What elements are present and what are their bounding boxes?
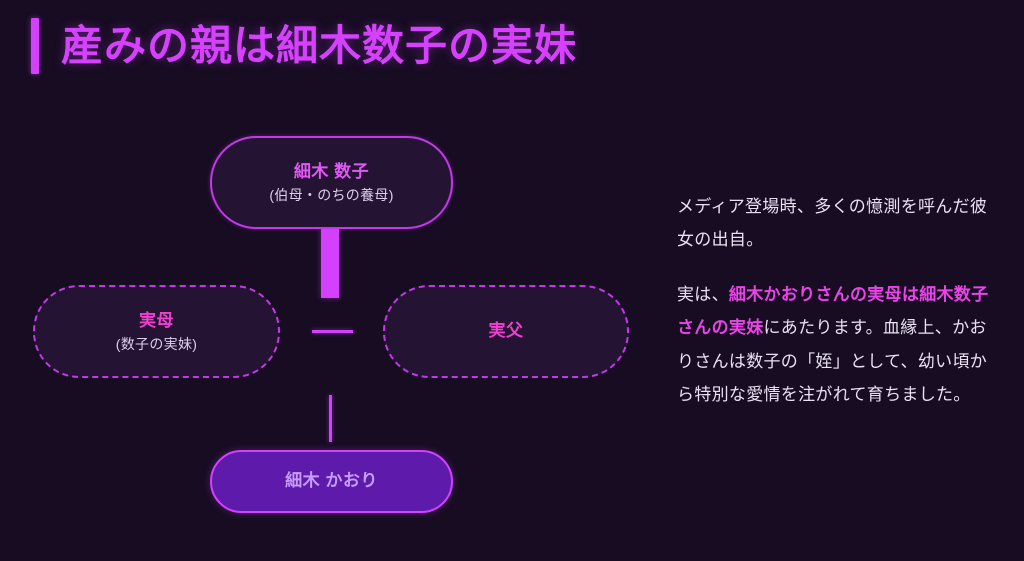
description-paragraph-1: メディア登場時、多くの憶測を呼んだ彼女の出自。: [677, 190, 1002, 256]
diagram-node-birth-mother: 実母 (数子の実妹): [33, 285, 280, 378]
node-label: 細木 かおり: [285, 470, 378, 492]
diagram-node-hosoki-kaori: 細木 かおり: [210, 450, 453, 513]
connector-kazuko-to-family: [321, 219, 339, 298]
diagram-node-hosoki-kazuko: 細木 数子 (伯母・のちの養母): [210, 136, 453, 229]
paragraph-lead-text: 実は、: [677, 285, 729, 304]
family-relation-diagram: 細木 数子 (伯母・のちの養母) 実母 (数子の実妹) 実父 細木 かおり: [0, 100, 660, 530]
page-title-row: 産みの親は細木数子の実妹: [31, 18, 577, 74]
description-paragraph-2: 実は、細木かおりさんの実母は細木数子さんの実妹にあたります。血縁上、かおりさんは…: [677, 278, 1002, 411]
diagram-node-birth-father: 実父: [383, 285, 629, 378]
node-label: 実父: [489, 320, 524, 342]
node-sublabel: (数子の実妹): [116, 335, 197, 353]
page-title: 産みの親は細木数子の実妹: [61, 25, 577, 67]
node-sublabel: (伯母・のちの養母): [269, 186, 393, 204]
node-label: 細木 数子: [294, 161, 369, 183]
description-text-column: メディア登場時、多くの憶測を呼んだ彼女の出自。 実は、細木かおりさんの実母は細木…: [677, 190, 1002, 411]
node-label: 実母: [139, 310, 174, 332]
connector-parents-to-kaori: [329, 395, 332, 442]
title-accent-bar: [31, 18, 39, 74]
connector-mother-father: [312, 330, 353, 333]
